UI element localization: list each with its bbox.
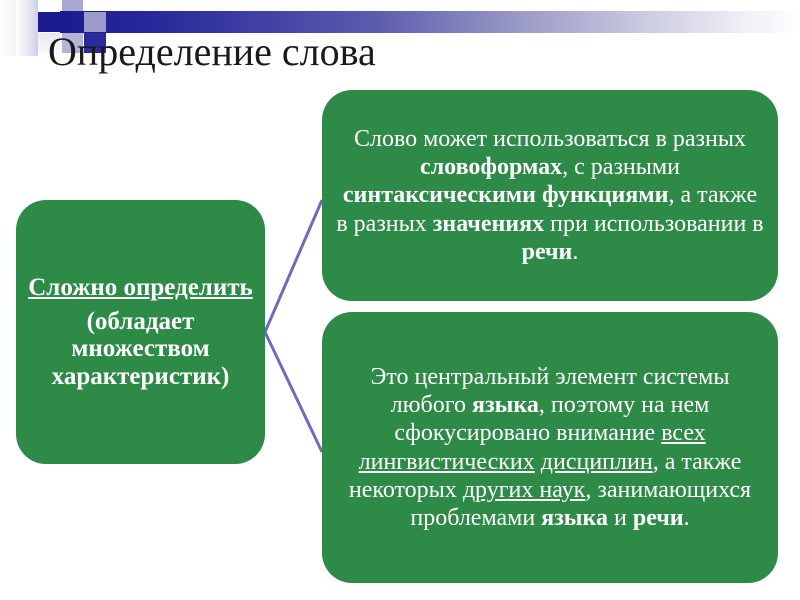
deco-square-white-top	[38, 0, 60, 12]
concept-box-left-body: (обладает множеством характеристик)	[26, 308, 255, 391]
slide-canvas: Определение слова Сложно определить (обл…	[0, 0, 800, 600]
concept-box-bottom-right[interactable]: Это центральный элемент системы любого я…	[322, 312, 778, 583]
connector-path	[265, 200, 322, 452]
concept-box-left-lead: Сложно определить	[26, 274, 255, 302]
deco-square-left-tall	[16, 0, 38, 56]
concept-box-top-right[interactable]: Слово может использоваться в разных слов…	[322, 90, 778, 301]
concept-box-top-right-text: Слово может использоваться в разных слов…	[336, 125, 764, 265]
concept-box-bottom-right-text: Это центральный элемент системы любого я…	[336, 363, 764, 531]
deco-square-far-left	[0, 0, 16, 56]
slide-title: Определение слова	[48, 31, 748, 73]
concept-box-left[interactable]: Сложно определить (обладает множеством х…	[16, 200, 265, 464]
